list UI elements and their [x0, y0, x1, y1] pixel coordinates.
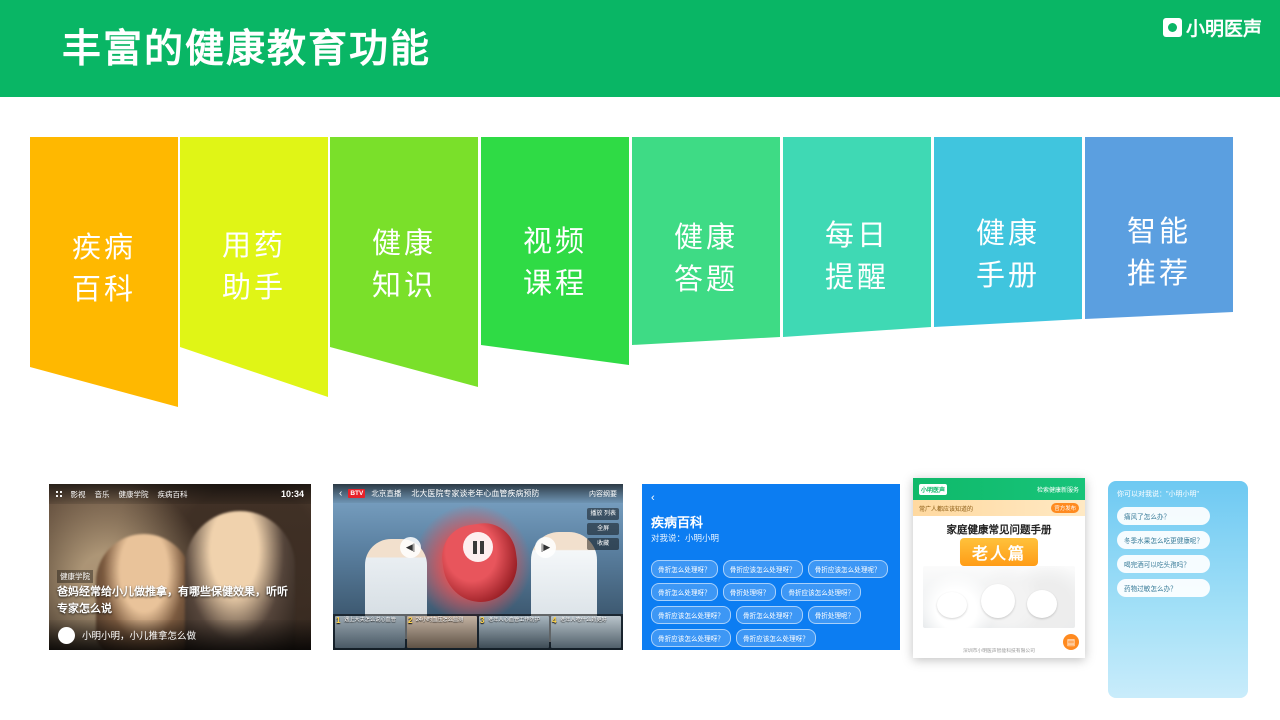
next-track-icon[interactable]: |▶	[535, 537, 556, 558]
funnel-band-3[interactable]: 健康 知识	[330, 97, 478, 407]
handbook-banner-text: 常广人都应该知道的	[919, 504, 973, 513]
video-controls[interactable]: ◀| |▶	[333, 532, 623, 562]
suggestion-chip[interactable]: 骨折应该怎么处理呀？	[781, 583, 861, 601]
handbook-banner: 常广人都应该知道的 官方发布	[913, 500, 1085, 516]
suggestion-chip[interactable]: 骨折怎么处理呀？	[736, 606, 803, 624]
suggestion-chip[interactable]: 骨折处理呢？	[808, 606, 862, 624]
video-side-button-0[interactable]: 播放 列表	[587, 508, 619, 520]
handbook-logo: 小明医声	[919, 484, 947, 495]
pill-bottle-icon	[937, 592, 967, 618]
suggestion-chip[interactable]: 骨折应该怎么处理呀？	[736, 629, 816, 647]
cart-icon[interactable]: ▤	[1063, 634, 1079, 650]
suggestion-chip[interactable]: 骨折处理呀？	[723, 583, 777, 601]
tv-menu-item-3[interactable]: 疾病百科	[158, 489, 188, 500]
suggestion-chip[interactable]: 骨折应该怎么处理呀？	[651, 606, 731, 624]
thumbnail-number: 3	[480, 616, 484, 625]
tv-menu-item-2[interactable]: 健康学院	[119, 489, 149, 500]
thumbnail-number: 2	[408, 616, 412, 625]
funnel-band-label: 健康 知识	[330, 223, 478, 307]
back-arrow-icon[interactable]: ‹	[339, 488, 342, 499]
video-thumbnail[interactable]: 3 老年人心血管工作防护	[479, 616, 549, 648]
screenshot-btv-video[interactable]: ‹ BTV 北京直播 北大医院专家谈老年心血管疾病预防 内容纲要 播放 列表 全…	[333, 484, 623, 650]
channel-badge: BTV	[348, 489, 365, 498]
video-title: 北大医院专家谈老年心血管疾病预防	[411, 488, 539, 499]
funnel-band-label: 健康 手册	[934, 213, 1082, 297]
tv-voice-bar[interactable]: 小明小明，小儿推拿怎么做	[49, 620, 311, 650]
suggestion-chip[interactable]: 骨折应该怎么处理呀？	[651, 629, 731, 647]
handbook-subheading: 老人篇	[960, 538, 1038, 566]
brand-mark-icon	[1163, 18, 1182, 37]
tv-menu-item-0[interactable]: 影视	[71, 489, 86, 500]
funnel-band-label: 智能 推荐	[1085, 211, 1233, 295]
thumbnail-caption: 遇上大夫怎么说心血管	[344, 617, 404, 623]
suggestion-chip[interactable]: 骨折怎么处理呀？	[651, 583, 718, 601]
funnel-band-label: 健康 答题	[632, 217, 780, 301]
video-thumbnail[interactable]: 2 24小时血压怎么监测	[407, 616, 477, 648]
funnel-bands: 疾病 百科 用药 助手 健康 知识 视频 课程 健康 答题 每日 提醒	[0, 97, 1280, 467]
thumbnail-caption: 老年人心血管工作防护	[488, 617, 548, 623]
grid-icon[interactable]	[56, 491, 62, 497]
tv-menu-item-1[interactable]: 音乐	[95, 489, 110, 500]
pill-jar-icon	[1027, 590, 1057, 618]
page-title: 丰富的健康教育功能	[62, 28, 431, 72]
handbook-photo	[923, 566, 1075, 628]
brand-logo: 小明医声	[1163, 14, 1262, 41]
handbook-heading: 家庭健康常见问题手册	[913, 522, 1085, 537]
chat-suggestion[interactable]: 冬季水果怎么吃更健康呢？	[1117, 531, 1210, 549]
video-thumbnail[interactable]: 4 老年人吃什么药更好	[551, 616, 621, 648]
funnel-band-7[interactable]: 健康 手册	[934, 97, 1082, 407]
encyclopedia-title: 疾病百科	[651, 512, 703, 531]
back-arrow-icon[interactable]: ‹	[651, 492, 655, 504]
funnel-band-1[interactable]: 疾病 百科	[30, 97, 178, 407]
thumbnail-number: 4	[552, 616, 556, 625]
funnel-band-label: 每日 提醒	[783, 215, 931, 299]
handbook-top-bar: 小明医声 检索健康新服务	[913, 478, 1085, 500]
tv-top-menu[interactable]: 影视 音乐 健康学院 疾病百科 10:34	[49, 484, 311, 504]
mic-icon[interactable]	[58, 627, 75, 644]
funnel-band-label: 用药 助手	[180, 225, 328, 309]
funnel-band-2[interactable]: 用药 助手	[180, 97, 328, 407]
chat-suggestion[interactable]: 痛风了怎么办？	[1117, 507, 1210, 525]
chat-intro-text: 你可以对我说："小明小明"	[1117, 490, 1240, 500]
funnel-band-label: 疾病 百科	[30, 227, 178, 311]
funnel-band-5[interactable]: 健康 答题	[632, 97, 780, 407]
brand-name: 小明医声	[1186, 14, 1262, 41]
tv-clock: 10:34	[281, 489, 304, 499]
handbook-footer: 深圳市小明医声智能科技有限公司	[913, 647, 1085, 654]
handbook-top-right-text: 检索健康新服务	[1037, 485, 1079, 494]
screenshot-strip: 影视 音乐 健康学院 疾病百科 10:34 健康学院 爸妈经常给小儿做推拿，有哪…	[0, 470, 1280, 720]
video-outline-button[interactable]: 内容纲要	[589, 489, 617, 499]
screenshot-tv-health[interactable]: 影视 音乐 健康学院 疾病百科 10:34 健康学院 爸妈经常给小儿做推拿，有哪…	[49, 484, 311, 650]
handbook-banner-badge: 官方发布	[1051, 503, 1079, 513]
thumbnail-number: 1	[336, 616, 340, 625]
suggestion-chip[interactable]: 骨折应该怎么处理呢？	[808, 560, 888, 578]
funnel-band-8[interactable]: 智能 推荐	[1085, 97, 1233, 407]
tv-category-tag: 健康学院	[57, 570, 93, 583]
chat-suggestion[interactable]: 药物过敏怎么办？	[1117, 579, 1210, 597]
pause-icon[interactable]	[463, 532, 493, 562]
screenshot-disease-encyclopedia[interactable]: ‹ 疾病百科 对我说：小明小明 骨折怎么处理呀？ 骨折应该怎么处理呀？ 骨折应该…	[642, 484, 900, 650]
video-thumbnail-list[interactable]: 1 遇上大夫怎么说心血管 2 24小时血压怎么监测 3 老年人心血管工作防护 4…	[333, 614, 623, 650]
screenshot-health-handbook[interactable]: 小明医声 检索健康新服务 常广人都应该知道的 官方发布 家庭健康常见问题手册 老…	[913, 478, 1085, 658]
encyclopedia-subtitle: 对我说：小明小明	[651, 532, 719, 544]
channel-name: 北京直播	[371, 488, 401, 499]
tv-voice-text: 小明小明，小儿推拿怎么做	[82, 628, 196, 642]
suggestion-chip[interactable]: 骨折怎么处理呀？	[651, 560, 718, 578]
pill-box-icon	[981, 584, 1015, 618]
prev-track-icon[interactable]: ◀|	[400, 537, 421, 558]
video-top-bar[interactable]: ‹ BTV 北京直播 北大医院专家谈老年心血管疾病预防 内容纲要	[333, 484, 623, 503]
thumbnail-caption: 老年人吃什么药更好	[560, 617, 620, 623]
suggestion-chip[interactable]: 骨折应该怎么处理呀？	[723, 560, 803, 578]
funnel-band-6[interactable]: 每日 提醒	[783, 97, 931, 407]
chat-suggestion[interactable]: 喝完酒可以吃头孢吗？	[1117, 555, 1210, 573]
video-thumbnail[interactable]: 1 遇上大夫怎么说心血管	[335, 616, 405, 648]
thumbnail-caption: 24小时血压怎么监测	[416, 617, 476, 623]
encyclopedia-suggestion-list[interactable]: 骨折怎么处理呀？ 骨折应该怎么处理呀？ 骨折应该怎么处理呢？ 骨折怎么处理呀？ …	[651, 560, 893, 647]
tv-headline: 爸妈经常给小儿做推拿，有哪些保健效果，听听专家怎么说	[57, 584, 297, 618]
funnel-band-label: 视频 课程	[481, 221, 629, 305]
screenshot-voice-chat[interactable]: 你可以对我说："小明小明" 痛风了怎么办？ 冬季水果怎么吃更健康呢？ 喝完酒可以…	[1108, 481, 1248, 698]
page-header: 丰富的健康教育功能 小明医声	[0, 0, 1280, 97]
chat-suggestion-list[interactable]: 痛风了怎么办？ 冬季水果怎么吃更健康呢？ 喝完酒可以吃头孢吗？ 药物过敏怎么办？	[1117, 507, 1210, 597]
funnel-band-4[interactable]: 视频 课程	[481, 97, 629, 407]
